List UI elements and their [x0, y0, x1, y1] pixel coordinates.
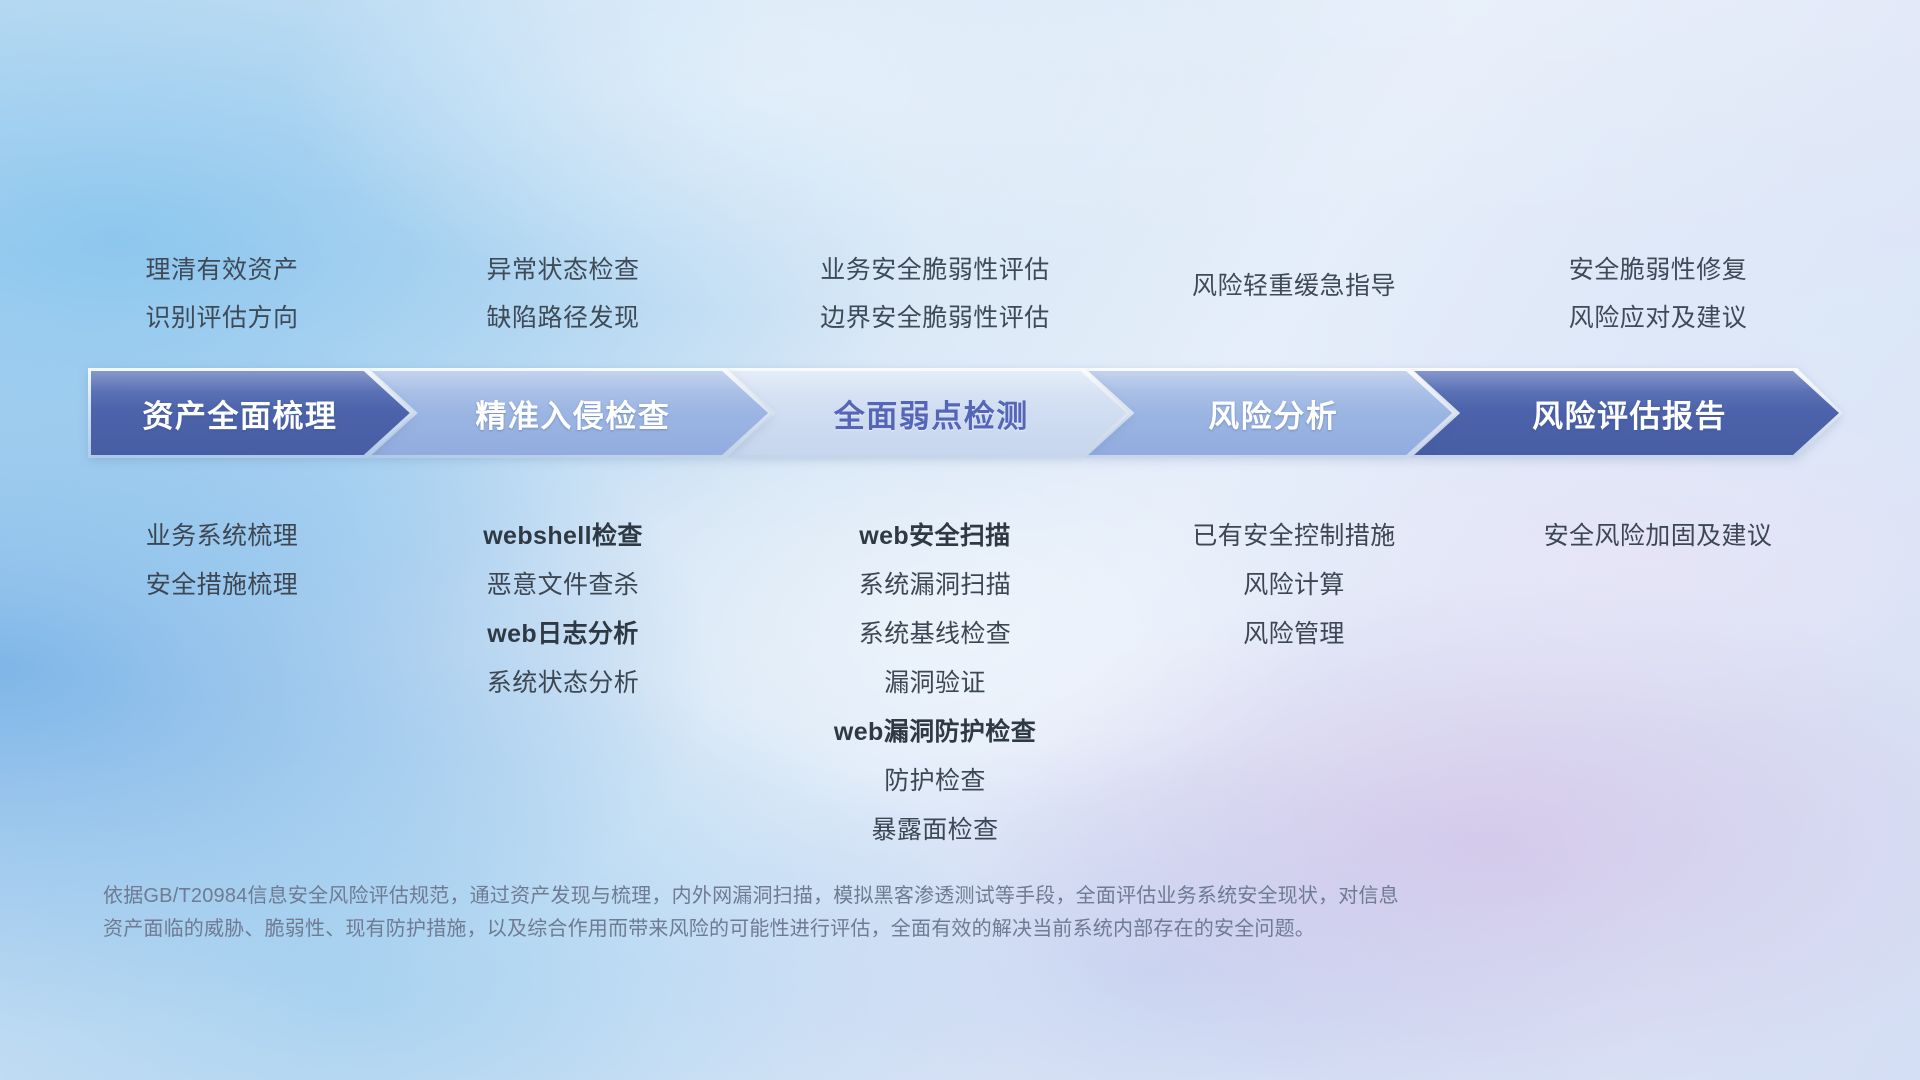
- stage-title-asset-inventory: 资产全面梳理: [142, 391, 337, 436]
- footer-line-1: 依据GB/T20984信息安全风险评估规范，通过资产发现与梳理，内外网漏洞扫描，…: [103, 880, 1663, 913]
- stage-chevron-band: 资产全面梳理精准入侵检查全面弱点检测风险分析风险评估报告: [0, 368, 1920, 458]
- stage-chevron-intrusion-check[interactable]: 精准入侵检查: [368, 368, 772, 458]
- stage-title-risk-report: 风险评估报告: [1532, 391, 1727, 436]
- process-diagram: 理清有效资产识别评估方向异常状态检查缺陷路径发现业务安全脆弱性评估边界安全脆弱性…: [0, 0, 1920, 1080]
- footer-note: 依据GB/T20984信息安全风险评估规范，通过资产发现与梳理，内外网漏洞扫描，…: [103, 880, 1663, 946]
- stage-title-intrusion-check: 精准入侵检查: [475, 391, 670, 436]
- stage-chevron-risk-report[interactable]: 风险评估报告: [1410, 368, 1843, 458]
- stage-title-risk-analysis: 风险分析: [1208, 391, 1338, 436]
- stage-title-weakness-detection: 全面弱点检测: [834, 391, 1029, 436]
- footer-line-2: 资产面临的威胁、脆弱性、现有防护措施，以及综合作用而带来风险的可能性进行评估，全…: [103, 913, 1663, 946]
- stage-chevron-asset-inventory[interactable]: 资产全面梳理: [88, 368, 414, 458]
- bottom-item: 安全风险加固及建议: [1378, 512, 1920, 561]
- stage-chevron-risk-analysis[interactable]: 风险分析: [1084, 368, 1456, 458]
- stage-chevron-weakness-detection[interactable]: 全面弱点检测: [726, 368, 1130, 458]
